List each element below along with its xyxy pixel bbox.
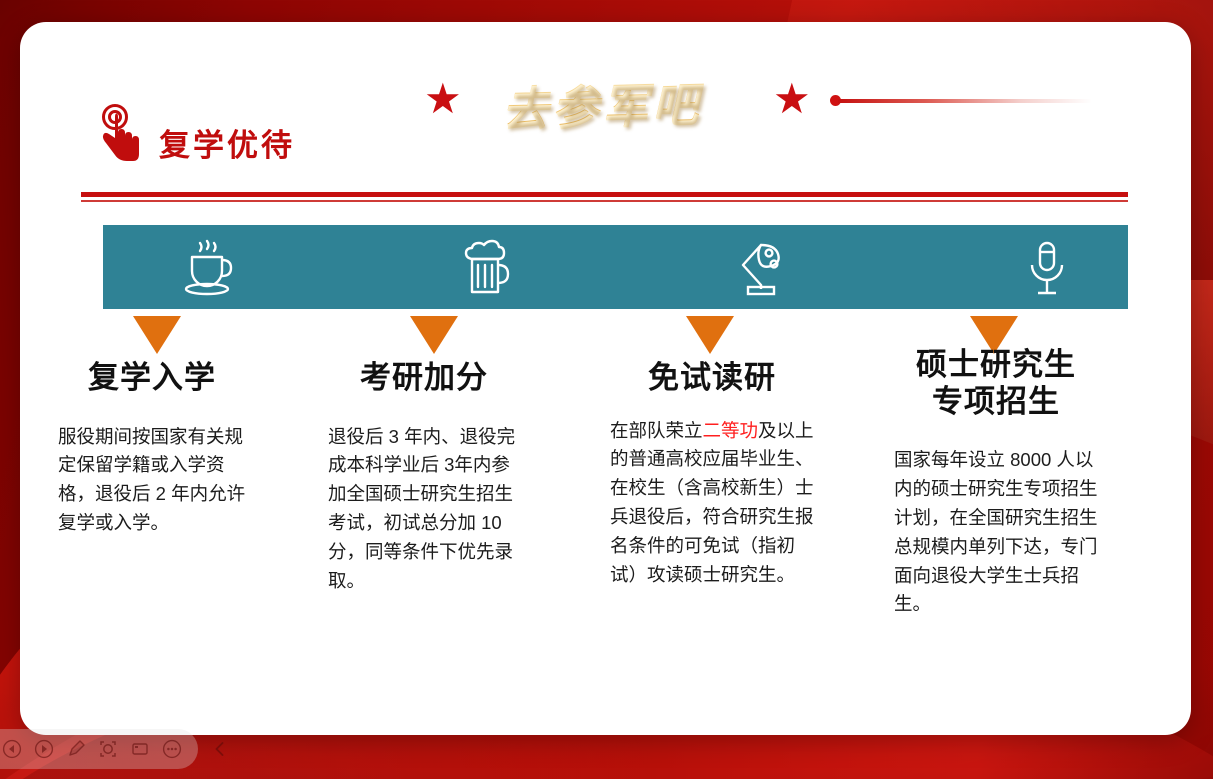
section-title: 复学优待 — [159, 130, 295, 161]
benefit-heading: 免试读研 — [598, 360, 826, 397]
next-slide-button[interactable] — [34, 738, 54, 760]
benefit-heading: 硕士研究生专项招生 — [880, 347, 1112, 420]
benefit-body: 服役期间按国家有关规定保留学籍或入学资格，退役后 2 年内允许复学或入学。 — [37, 423, 267, 538]
presenter-toolbar[interactable] — [0, 729, 198, 769]
star-left-icon: ★ — [424, 78, 462, 120]
zoom-tool-button[interactable] — [98, 738, 118, 760]
brand-slogan: 去参军吧 — [501, 67, 753, 138]
hand-pointer-icon — [95, 104, 143, 164]
desk-lamp-icon — [731, 237, 795, 299]
more-options-button[interactable] — [162, 738, 182, 760]
benefit-column: 硕士研究生专项招生 国家每年设立 8000 人以内的硕士研究生专项招生计划，在全… — [880, 347, 1112, 619]
microphone-icon — [1015, 237, 1079, 299]
benefit-heading: 复学入学 — [37, 360, 267, 397]
header-divider — [81, 192, 1128, 202]
benefit-column: 考研加分 退役后 3 年内、退役完成本科学业后 3年内参加全国硕士研究生招生考试… — [312, 360, 536, 596]
pointer-triangle — [133, 316, 181, 354]
benefit-column: 免试读研 在部队荣立二等功及以上的普通高校应届毕业生、在校生（含高校新生）士兵退… — [598, 360, 826, 590]
slide-stage: 复学优待 ★ 去参军吧 ★ — [0, 0, 1213, 779]
star-right-icon: ★ — [773, 78, 811, 120]
beer-mug-icon — [455, 237, 519, 299]
benefit-highlight: 二等功 — [703, 420, 759, 441]
benefit-heading: 考研加分 — [312, 360, 536, 397]
coffee-cup-icon — [178, 237, 242, 299]
slide-card: 复学优待 ★ 去参军吧 ★ — [20, 22, 1191, 735]
benefit-body: 国家每年设立 8000 人以内的硕士研究生专项招生计划，在全国研究生招生总规模内… — [880, 446, 1112, 619]
benefit-body: 退役后 3 年内、退役完成本科学业后 3年内参加全国硕士研究生招生考试，初试总分… — [312, 423, 536, 596]
pointer-triangle — [410, 316, 458, 354]
pen-tool-button[interactable] — [66, 738, 86, 760]
benefit-body: 在部队荣立二等功及以上的普通高校应届毕业生、在校生（含高校新生）士兵退役后，符合… — [598, 417, 826, 590]
previous-slide-button[interactable] — [2, 738, 22, 760]
icon-bar — [103, 225, 1128, 309]
slide-header: 复学优待 ★ 去参军吧 ★ — [20, 22, 1191, 187]
collapse-toolbar-button[interactable] — [210, 738, 230, 760]
pointer-triangle — [686, 316, 734, 354]
benefit-column: 复学入学 服役期间按国家有关规定保留学籍或入学资格，退役后 2 年内允许复学或入… — [37, 360, 267, 538]
accent-fade-line — [838, 99, 1092, 103]
slide-view-button[interactable] — [130, 738, 150, 760]
